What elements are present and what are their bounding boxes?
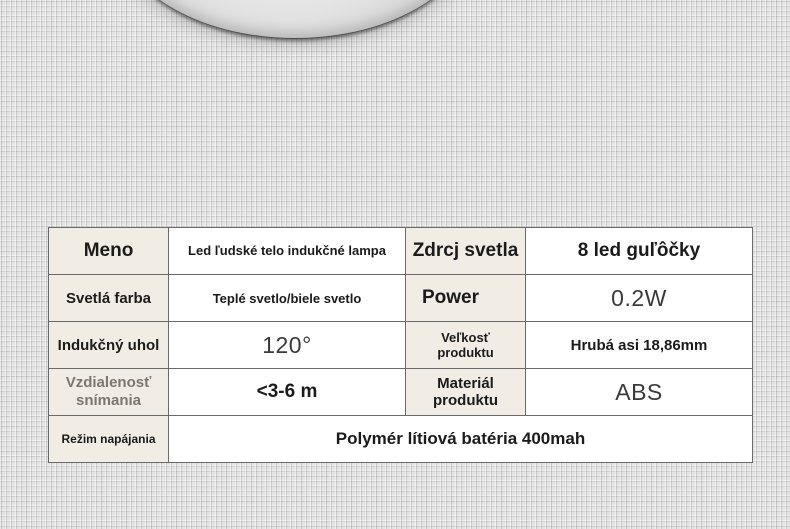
- spec-value-0-3: 8 led guľôčky: [526, 228, 753, 275]
- table-row: Vzdialenosť snímania<3-6 mMateriál produ…: [49, 369, 753, 416]
- table-row: MenoLed ľudské telo indukčné lampaZdrcj …: [49, 228, 753, 275]
- specification-table: MenoLed ľudské telo indukčné lampaZdrcj …: [48, 227, 753, 463]
- spec-label-2-2: Veľkosť produktu: [406, 322, 526, 369]
- spec-label-2-0: Indukčný uhol: [49, 322, 169, 369]
- spec-table-body: MenoLed ľudské telo indukčné lampaZdrcj …: [49, 228, 753, 463]
- spec-label-1-0: Svetlá farba: [49, 275, 169, 322]
- spec-value-0-1: Led ľudské telo indukčné lampa: [169, 228, 406, 275]
- lamp-disc: [116, 0, 474, 39]
- spec-label-3-0: Vzdialenosť snímania: [49, 369, 169, 416]
- spec-value-3-1: <3-6 m: [169, 369, 406, 416]
- spec-label-3-2: Materiál produktu: [406, 369, 526, 416]
- spec-label-0-0: Meno: [49, 228, 169, 275]
- spec-value-2-3: Hrubá asi 18,86mm: [526, 322, 753, 369]
- table-row: Svetlá farbaTeplé svetlo/biele svetloPow…: [49, 275, 753, 322]
- product-photo: [0, 0, 790, 215]
- spec-value-2-1: 120°: [169, 322, 406, 369]
- spec-value-1-3: 0.2W: [526, 275, 753, 322]
- spec-value-4-1: Polymér lítiová batéria 400mah: [169, 416, 753, 463]
- spec-value-3-3: ABS: [526, 369, 753, 416]
- spec-label-4-0: Režim napájania: [49, 416, 169, 463]
- spec-value-1-1: Teplé svetlo/biele svetlo: [169, 275, 406, 322]
- table-row: Indukčný uhol120°Veľkosť produktuHrubá a…: [49, 322, 753, 369]
- spec-label-1-2: Power: [406, 275, 526, 322]
- spec-label-0-2: Zdrcj svetla: [406, 228, 526, 275]
- table-row: Režim napájaniaPolymér lítiová batéria 4…: [49, 416, 753, 463]
- page-background: MenoLed ľudské telo indukčné lampaZdrcj …: [0, 0, 790, 529]
